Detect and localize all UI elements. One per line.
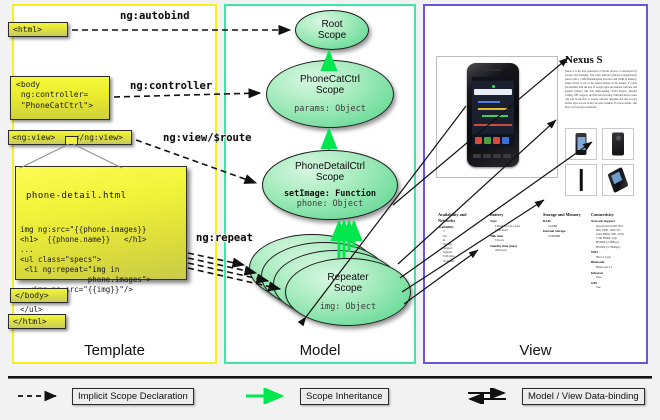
green-arrow-icon	[244, 388, 294, 404]
legend-label-scope-inheritance: Scope Inheritance	[300, 388, 389, 405]
spec-column-battery: Battery Type Lithium Ion (Li-Ion) 1500 m…	[490, 212, 538, 252]
diagram-root: Template Model View	[0, 0, 660, 420]
phone-button-search	[503, 154, 511, 158]
phone-screen-line-3	[482, 115, 508, 117]
scope-phonedetailctrl: PhoneDetailCtrl Scope setImage: Function…	[262, 150, 398, 220]
phone-button-menu	[483, 154, 491, 158]
phone-back-thumb-icon	[612, 133, 624, 156]
legend-item-implicit-scope-declaration: Implicit Scope Declaration	[16, 388, 194, 404]
scope-repeater: Repeater Scope img: Object	[285, 258, 411, 326]
view-thumbnail-4[interactable]	[602, 164, 634, 196]
label-ng-controller: ng:controller	[130, 80, 212, 92]
phone-dock	[472, 134, 514, 147]
panel-template-label: Template	[14, 342, 215, 359]
legend-divider	[8, 376, 652, 379]
legend-label-model-view-data-binding: Model / View Data-binding	[522, 388, 645, 405]
spec-value-battery-standby: 428 hours	[495, 248, 538, 252]
phone-button-home	[493, 154, 501, 158]
spec-value-gps: true	[596, 285, 639, 289]
scope-root-title-2: Scope	[318, 30, 346, 41]
spec-header-connectivity: Connectivity	[591, 212, 639, 218]
phone-searchbar	[474, 89, 512, 95]
spec-column-connectivity: Connectivity Network Support Quad-band G…	[591, 212, 639, 289]
scope-phonecatctrl-member-params: params: Object	[294, 104, 366, 114]
phone-dock-icon-1	[475, 137, 482, 144]
phone-screen-line-2	[478, 108, 508, 110]
ngview-slot-icon	[65, 136, 78, 145]
view-product-description: Nexus S is the next generation of Nexus …	[565, 70, 637, 110]
spec-value-network-6: HSUPA (5.76Mbps)	[596, 245, 639, 249]
spec-value-bluetooth: Bluetooth 2.1	[596, 265, 639, 269]
ngview-open: <ng:view>	[12, 133, 55, 142]
scope-phonedetailctrl-title-1: PhoneDetailCtrl	[295, 161, 365, 172]
code-note-phone-detail: phone-detail.html img ng:src="{{phone.im…	[15, 166, 187, 280]
view-thumbnail-3[interactable]	[565, 164, 597, 196]
view-hero-image-frame	[436, 56, 558, 178]
phone-speaker	[485, 69, 501, 71]
code-close-body: </body>	[10, 288, 68, 303]
view-thumbnail-1[interactable]	[565, 128, 597, 160]
phone-button-back	[473, 154, 481, 158]
phone-home-buttons	[472, 151, 514, 161]
spec-header-storage: Storage and Memory	[543, 212, 591, 218]
legend-bar: Implicit Scope Declaration Scope Inherit…	[0, 372, 660, 420]
view-mock-page: Nexus S Nexus S is the next generation o…	[432, 12, 640, 342]
code-body-tag: <body ng:controller= "PhoneCatCtrl">	[10, 76, 110, 120]
legend-item-scope-inheritance: Scope Inheritance	[244, 388, 389, 404]
spec-value-infrared: false	[596, 275, 639, 279]
phone-front-thumb-icon	[576, 133, 587, 155]
scope-root: Root Scope	[295, 10, 369, 50]
scope-phonecatctrl-title-2: Scope	[316, 85, 344, 96]
phone-dock-icon-2	[484, 137, 491, 144]
scope-root-title-1: Root	[321, 19, 342, 30]
code-close-html: </html>	[8, 314, 66, 329]
spec-column-storage: Storage and Memory RAM 512MB Internal St…	[543, 212, 591, 238]
spec-value-battery-talktime: 6 hours	[495, 238, 538, 242]
spec-value-internal-storage: 16384MB	[548, 234, 591, 238]
spec-value-availability-8: Vodafone	[443, 259, 484, 263]
diagram-canvas: Template Model View	[0, 0, 660, 372]
phone-dock-icon-4	[502, 137, 509, 144]
code-html-tag: <html>	[8, 22, 68, 37]
spec-header-availability: Availability and Networks	[438, 212, 484, 223]
spec-column-availability: Availability and Networks Availability 3…	[438, 212, 484, 263]
ngview-close: </ng:view>	[75, 133, 123, 142]
scope-repeater-title-1: Repeater	[327, 272, 368, 283]
label-ng-repeat: ng:repeat	[196, 232, 253, 244]
double-arrow-icon	[466, 388, 516, 404]
view-specs-table: Availability and Networks Availability 3…	[436, 212, 636, 322]
scope-phonedetailctrl-member-setimage: setImage: Function	[284, 189, 376, 199]
note-code: img ng:src="{{phone.images}} <h1> {{phon…	[20, 225, 182, 324]
phone-dock-icon-3	[493, 137, 500, 144]
phone-edge-thumb-icon	[580, 169, 583, 191]
phone-statusbar	[472, 77, 514, 81]
scope-repeater-title-2: Scope	[334, 283, 362, 294]
label-ng-view-route: ng:view/$route	[163, 132, 252, 144]
spec-value-ram: 512MB	[548, 224, 591, 228]
panel-view-label: View	[425, 342, 646, 359]
scope-phonedetailctrl-member-phone: phone: Object	[297, 199, 364, 209]
phone-screen	[472, 77, 514, 147]
phone-screen-dot-1	[492, 85, 495, 88]
phone-screen-line-4	[474, 124, 512, 126]
panel-model-label: Model	[226, 342, 414, 359]
spec-header-battery: Battery	[490, 212, 538, 218]
spec-value-wifi: 802.11 b/g/n	[596, 255, 639, 259]
phone-screen-line-1	[478, 101, 500, 103]
note-filename: phone-detail.html	[26, 191, 182, 203]
legend-item-model-view-data-binding: Model / View Data-binding	[466, 388, 645, 404]
label-ng-autobind: ng:autobind	[120, 10, 190, 22]
scope-phonecatctrl-title-1: PhoneCatCtrl	[300, 74, 360, 85]
scope-phonedetailctrl-title-2: Scope	[316, 172, 344, 183]
view-thumbnail-2[interactable]	[602, 128, 634, 160]
view-product-title: Nexus S	[565, 54, 603, 66]
phone-illustration	[467, 63, 519, 167]
scope-repeater-member-img: img: Object	[320, 302, 376, 312]
phone-angle-thumb-icon	[607, 167, 628, 193]
legend-label-implicit-scope-declaration: Implicit Scope Declaration	[72, 388, 194, 405]
scope-phonecatctrl: PhoneCatCtrl Scope params: Object	[266, 60, 394, 128]
spec-value-battery-type-2: 1500 mAh	[495, 228, 538, 232]
dashed-arrow-icon	[16, 388, 66, 404]
